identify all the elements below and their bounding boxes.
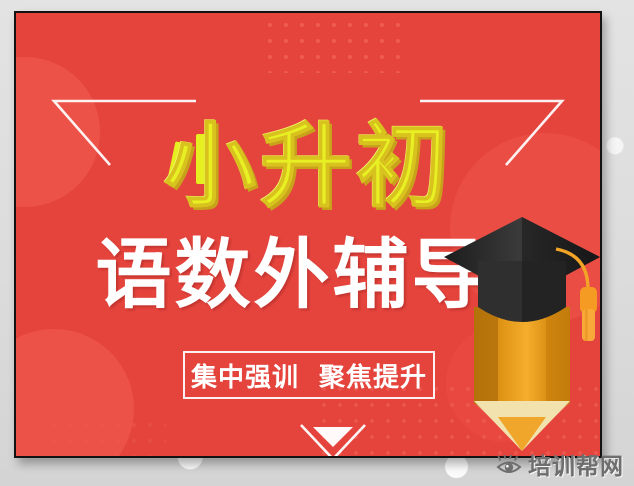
poster-canvas: 小升初 语数外辅导 集中强训 聚焦提升 <box>16 13 600 456</box>
dot-grid-top-icon <box>262 17 402 73</box>
eye-sun-icon <box>496 455 522 479</box>
subtitle-box: 集中强训 聚焦提升 <box>183 351 435 399</box>
watermark-text: 培训帮网 <box>528 456 624 479</box>
chevron-down-icon <box>297 417 369 456</box>
poster-frame: 小升初 语数外辅导 集中强训 聚焦提升 <box>14 11 602 458</box>
screenshot-canvas: 小升初 语数外辅导 集中强训 聚焦提升 <box>0 0 634 486</box>
dot-grid-bottom-left-icon <box>46 417 166 456</box>
headline-primary: 小升初 <box>16 121 600 213</box>
watermark: 培训帮网 <box>490 450 630 484</box>
pencil-with-graduation-cap-icon <box>438 203 600 453</box>
subtitle-text: 集中强训 聚焦提升 <box>191 357 427 394</box>
